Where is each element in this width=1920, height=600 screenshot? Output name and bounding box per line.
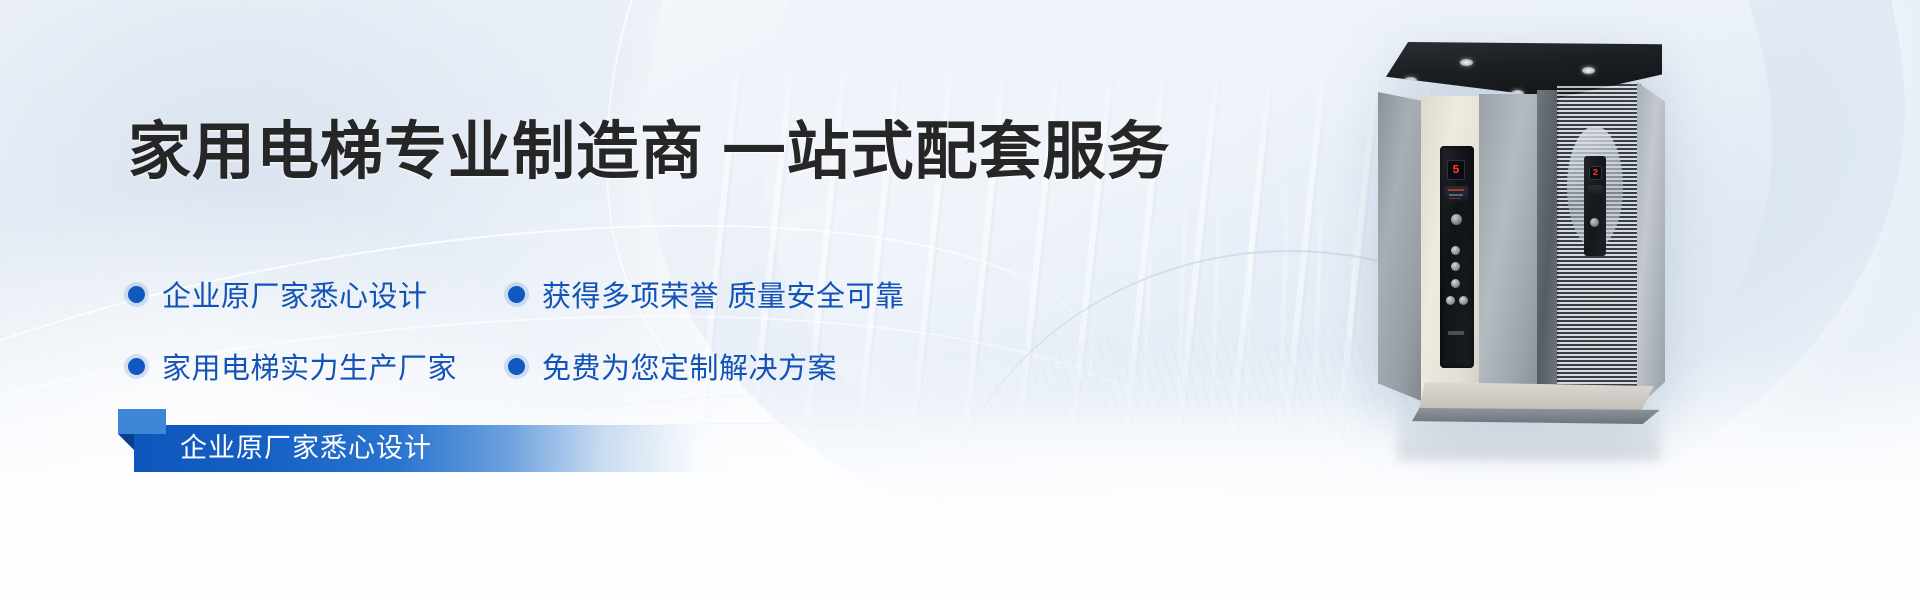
feature-bullet-label: 免费为您定制解决方案 [542,345,837,387]
cabin-frame-right [1637,82,1665,408]
elevator-inner-control-panel: 2 [1584,156,1606,256]
bullet-dot-icon [508,358,525,375]
floor-indicator-digit: 5 [1452,164,1459,176]
banner-headline: 家用电梯专业制造商 一站式配套服务 [128,116,1171,188]
highlight-ribbon[interactable]: 企业原厂家悉心设计 [134,425,734,472]
bullet-dot-icon [128,286,145,303]
cabin-corner-post [1537,90,1559,408]
ribbon-fold-icon [118,434,134,450]
brand-stripe [1449,198,1461,199]
control-panel-brand-plate [1445,186,1468,202]
floor-button-icon [1451,246,1460,255]
inner-floor-digit: 2 [1593,169,1598,178]
cabin-wall-mid [1479,94,1539,408]
ceiling-light-icon [1460,59,1473,66]
bullet-dot-icon [508,286,525,303]
background-haze-top-left [0,0,640,480]
floor-button-icon [1451,279,1460,288]
door-close-button-icon [1459,296,1468,305]
feature-bullet-item: 获得多项荣誉 质量安全可靠 [508,273,948,315]
brand-stripe [1449,194,1463,196]
promo-banner: 家用电梯专业制造商 一站式配套服务 企业原厂家悉心设计 获得多项荣誉 质量安全可… [0,0,1920,600]
control-panel-logo [1448,331,1464,335]
elevator-control-panel: 5 [1440,146,1474,368]
floor-indicator-display: 5 [1447,160,1465,180]
emergency-knob-icon [1451,214,1462,225]
feature-bullet-label: 家用电梯实力生产厂家 [162,345,457,387]
brand-stripe [1448,189,1464,191]
cabin-wall-left [1378,92,1424,402]
feature-bullet-item: 家用电梯实力生产厂家 [128,345,508,387]
floor-button-icon [1451,262,1460,271]
ceiling-light-icon [1582,67,1595,74]
feature-bullet-item: 免费为您定制解决方案 [508,345,948,387]
feature-bullet-list: 企业原厂家悉心设计 获得多项荣誉 质量安全可靠 家用电梯实力生产厂家 免费为您定… [128,258,1008,402]
elevator-cabin-body: 5 2 [1378,86,1674,412]
bullet-dot-icon [128,358,145,375]
inner-knob-icon [1590,218,1599,227]
feature-bullet-label: 获得多项荣誉 质量安全可靠 [542,273,905,315]
inner-floor-indicator: 2 [1589,166,1602,180]
light-ribbon-3 [0,378,1311,600]
feature-bullet-item: 企业原厂家悉心设计 [128,273,508,315]
ribbon-tab-icon [118,409,166,434]
ceiling-light-icon [1404,77,1417,84]
ribbon-label: 企业原厂家悉心设计 [180,425,432,472]
door-open-button-icon [1446,296,1455,305]
feature-bullet-label: 企业原厂家悉心设计 [162,273,428,315]
inner-brand-plate [1588,185,1603,196]
elevator-cabin-image: 5 2 [1378,42,1674,412]
